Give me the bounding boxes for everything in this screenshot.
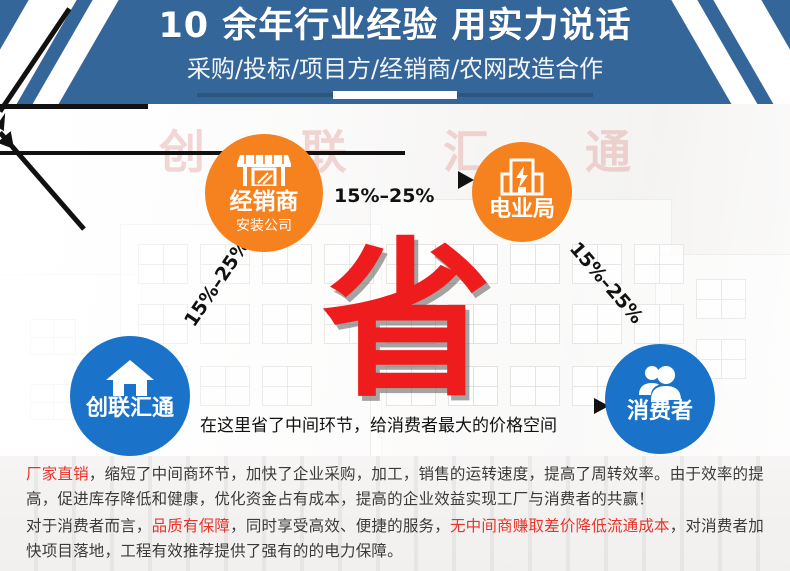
node-power-bureau[interactable]: 电业局 xyxy=(472,142,572,242)
header-subtitle: 采购/投标/项目方/经销商/农网改造合作 xyxy=(0,54,790,84)
people-icon xyxy=(605,364,715,402)
footer-paragraph-1-rest: ，缩短了中间商环节，加快了企业采购，加工，销售的运转速度，提高了周转效率。由于效… xyxy=(26,465,764,508)
node-power-bureau-label: 电业局 xyxy=(472,199,572,221)
footer-highlight-factory-direct: 厂家直销 xyxy=(26,465,89,483)
footer-paragraph-2: 对于消费者而言，品质有保障，同时享受高效、便捷的服务，无中间商赚取差价降低流通成… xyxy=(26,514,772,564)
node-consumer[interactable]: 消费者 xyxy=(605,344,715,454)
footer-highlight-quality: 品质有保障 xyxy=(152,517,231,535)
store-icon xyxy=(205,152,323,186)
node-dealer[interactable]: 经销商 安装公司 xyxy=(205,134,323,252)
footer-paragraph-2-mid: ，同时享受高效、便捷的服务， xyxy=(230,517,450,535)
flow-diagram: 省 15%–25% 15%–25% 15%–25% 在这里省了中间环节，给消费者… xyxy=(0,104,790,456)
arrow-brand-to-dealer-head xyxy=(0,113,13,131)
footer-text-block: 厂家直销，缩短了中间商环节，加快了企业采购，加工，销售的运转速度，提高了周转效率… xyxy=(0,456,790,571)
node-brand-company-label: 创联汇通 xyxy=(70,398,190,420)
arrow-label-brand-to-consumer: 在这里省了中间环节，给消费者最大的价格空间 xyxy=(200,411,557,436)
node-dealer-sublabel: 安装公司 xyxy=(205,219,323,233)
house-icon xyxy=(70,358,190,398)
footer-highlight-no-middleman: 无中间商赚取差价降低流通成本 xyxy=(450,517,670,535)
node-consumer-label: 消费者 xyxy=(605,401,715,423)
header-title: 10 余年行业经验 用实力说话 xyxy=(0,4,790,49)
arrow-label-dealer-to-bureau: 15%–25% xyxy=(334,185,434,207)
arrow-label-brand-to-dealer: 15%–25% xyxy=(180,235,254,331)
header-banner: 10 余年行业经验 用实力说话 采购/投标/项目方/经销商/农网改造合作 xyxy=(0,0,790,104)
big-save-character: 省 xyxy=(322,237,492,407)
footer-paragraph-2-lead: 对于消费者而言， xyxy=(26,517,152,535)
power-building-icon xyxy=(472,158,572,196)
node-brand-company[interactable]: 创联汇通 xyxy=(70,336,190,456)
arrow-dealer-to-bureau-line xyxy=(0,104,148,109)
arrow-label-bureau-to-consumer: 15%–25% xyxy=(565,238,648,328)
footer-paragraph-1: 厂家直销，缩短了中间商环节，加快了企业采购，加工，销售的运转速度，提高了周转效率… xyxy=(26,462,772,512)
arrow-brand-to-consumer-line xyxy=(0,151,405,155)
header-divider-highlight xyxy=(333,91,457,99)
node-dealer-label: 经销商 xyxy=(205,191,323,214)
infographic-page: 10 余年行业经验 用实力说话 采购/投标/项目方/经销商/农网改造合作 xyxy=(0,0,790,571)
